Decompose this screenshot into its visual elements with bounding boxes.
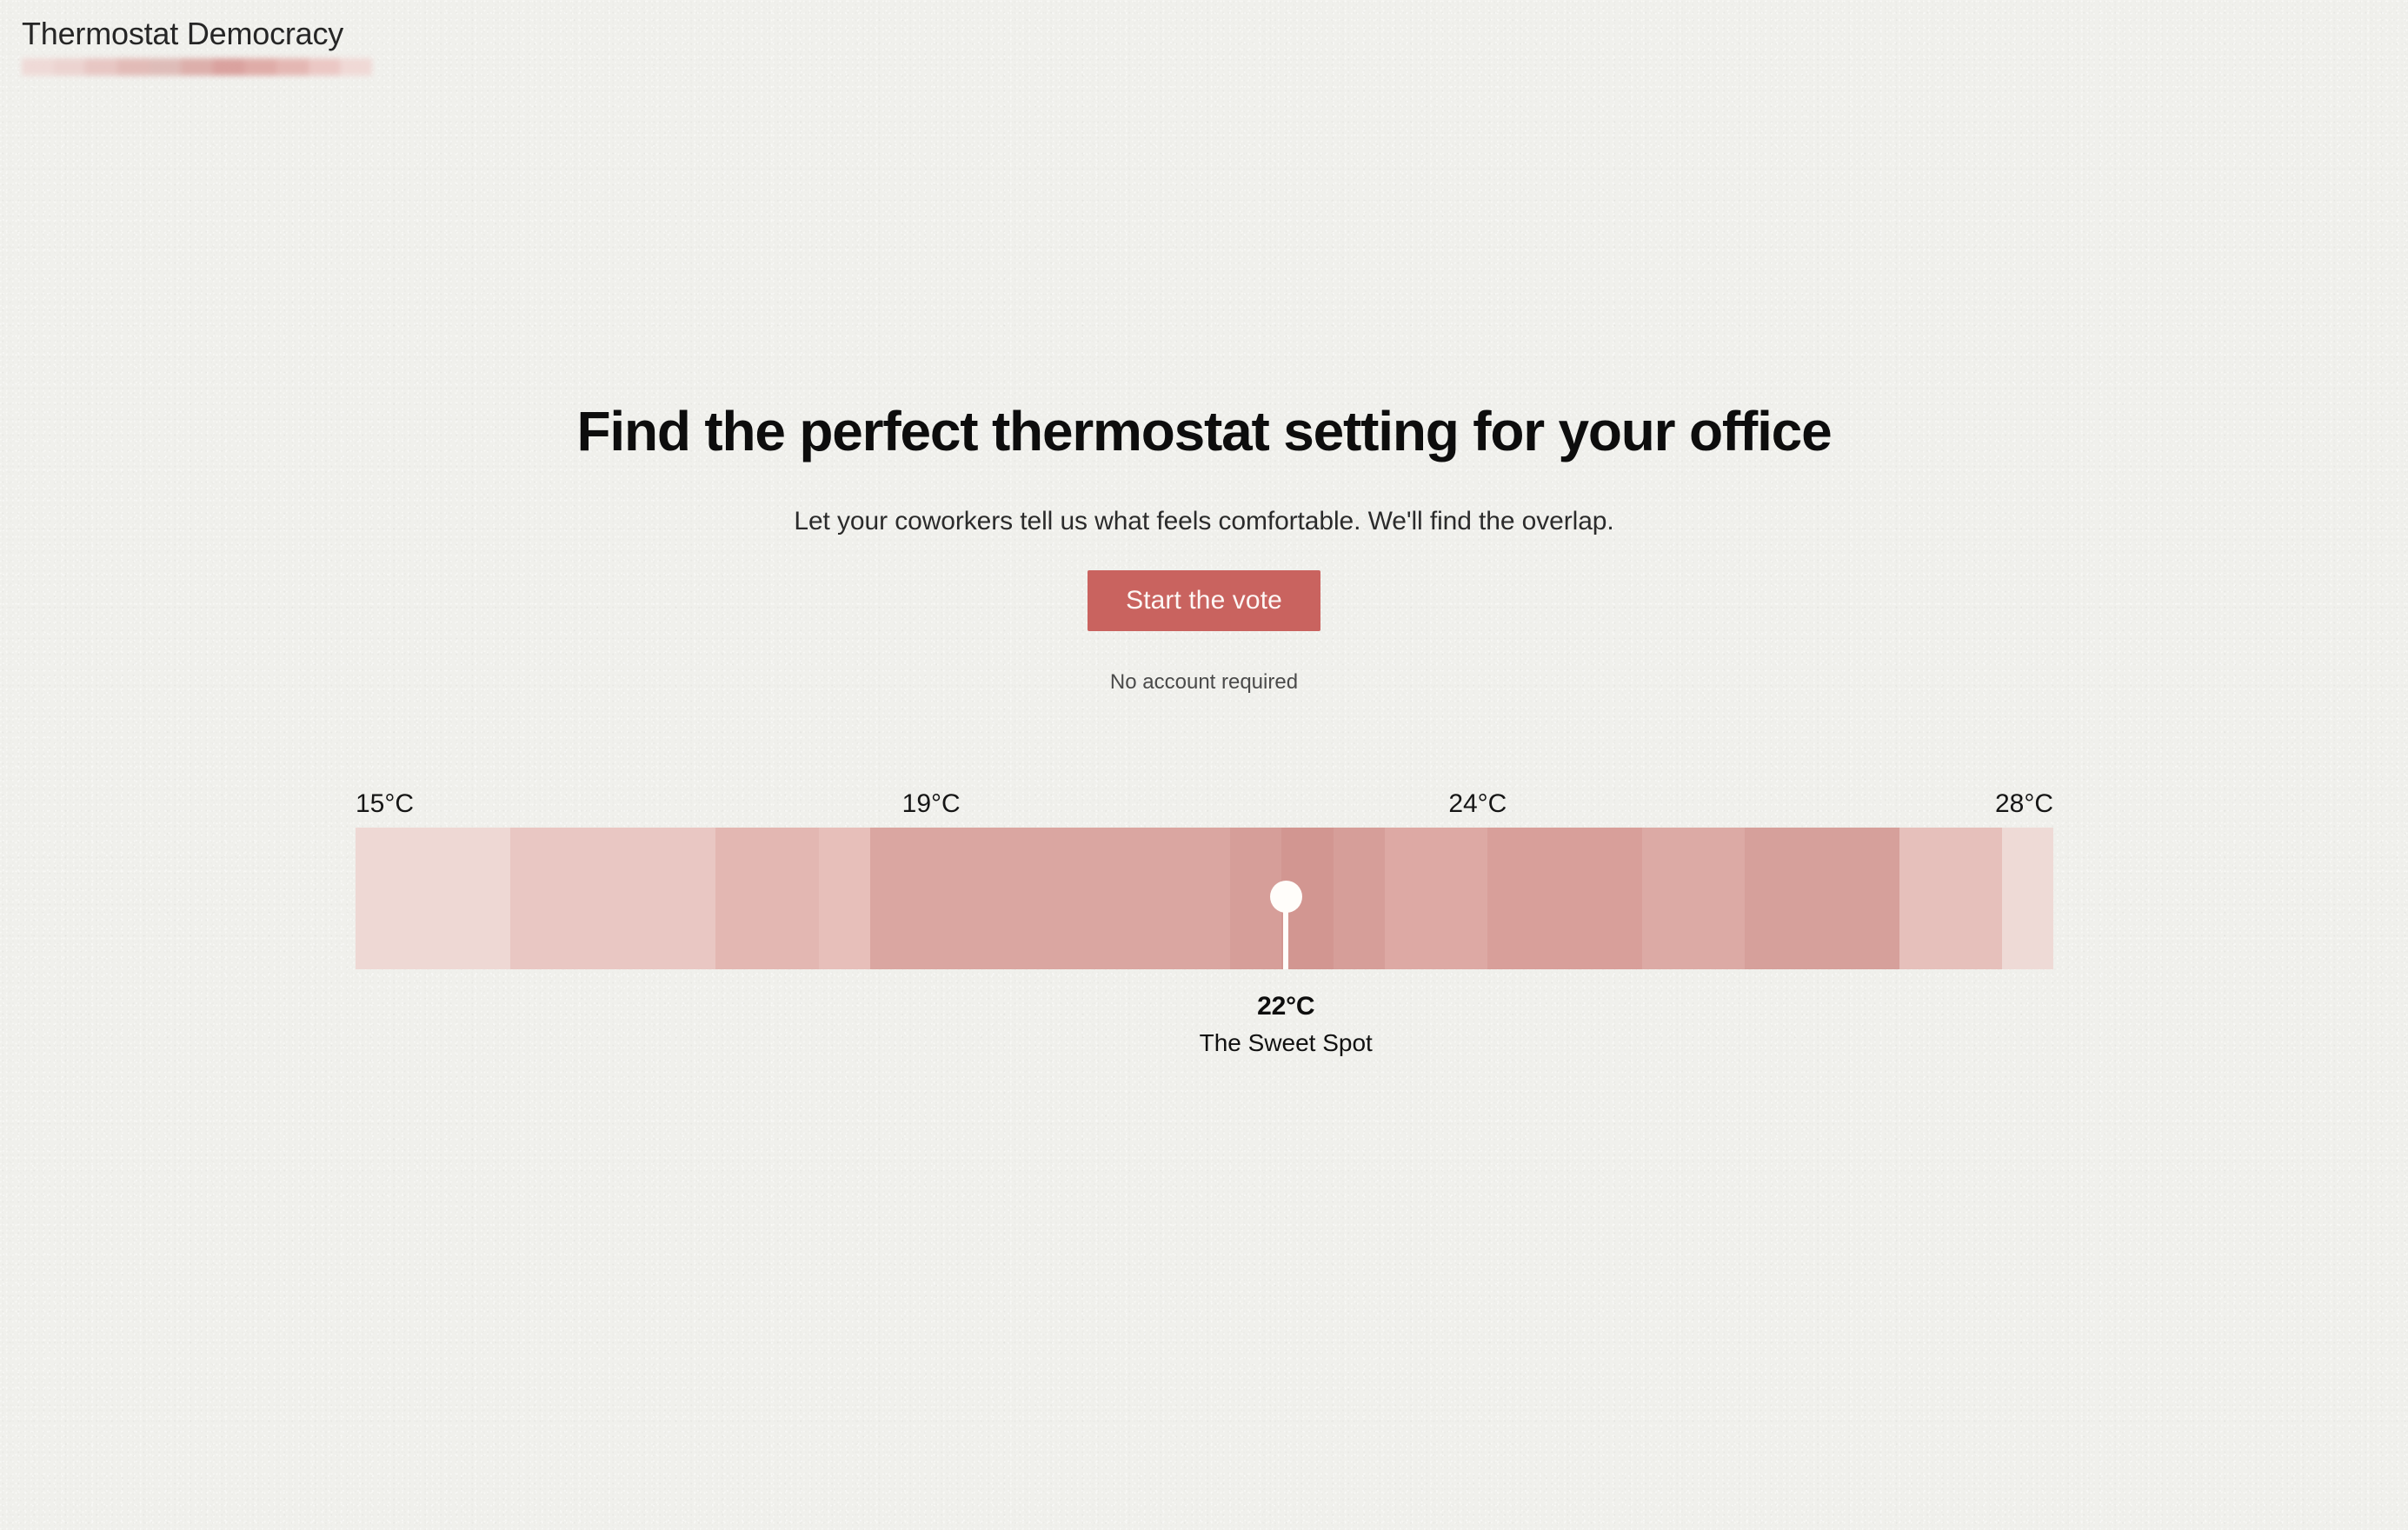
heatmap-band (1642, 828, 1693, 969)
heatmap-band (407, 828, 458, 969)
heatmap-band (768, 828, 819, 969)
heatmap-band (613, 828, 664, 969)
hero-subtitle: Let your coworkers tell us what feels co… (0, 507, 2408, 536)
heatmap-band (458, 828, 509, 969)
cta-wrapper: Start the vote (0, 570, 2408, 631)
heatmap-band (1487, 828, 1539, 969)
heatmap-band (1591, 828, 1642, 969)
brand-underline-segment (213, 58, 245, 76)
heatmap-band (664, 828, 715, 969)
scale-tick-label: 15°C (356, 789, 414, 819)
brand-underline-segment (85, 58, 117, 76)
scale-tick-label: 19°C (902, 789, 961, 819)
brand-title: Thermostat Democracy (22, 16, 372, 51)
brand-underline-segment (276, 58, 309, 76)
heatmap-band (1385, 828, 1436, 969)
heatmap-band (1899, 828, 1951, 969)
temperature-scale[interactable]: 15°C 19°C 24°C 28°C (356, 789, 2053, 969)
heatmap-band (819, 828, 870, 969)
heatmap-band (2002, 828, 2053, 969)
heatmap-band (562, 828, 613, 969)
heatmap-band (1539, 828, 1590, 969)
heatmap-band (1334, 828, 1385, 969)
heatmap-band (510, 828, 562, 969)
scale-tick-label: 28°C (1995, 789, 2053, 819)
heatmap-band (1076, 828, 1128, 969)
heatmap-band (1128, 828, 1179, 969)
scale-tick-label: 24°C (1448, 789, 1507, 819)
start-vote-button[interactable]: Start the vote (1088, 570, 1320, 631)
heatmap-band (1951, 828, 2002, 969)
site-header: Thermostat Democracy (22, 16, 372, 76)
brand-underline-segment (117, 58, 150, 76)
brand-underline-segment (54, 58, 86, 76)
heatmap-band (1847, 828, 1899, 969)
brand-underline-segment (22, 58, 54, 76)
scale-tick-labels: 15°C 19°C 24°C 28°C (356, 789, 2053, 819)
brand-underline-segment (309, 58, 341, 76)
heatmap-band (356, 828, 407, 969)
cta-note: No account required (0, 670, 2408, 695)
page-title: Find the perfect thermostat setting for … (0, 401, 2408, 462)
heatmap-band (715, 828, 767, 969)
brand-underline-segment (150, 58, 182, 76)
sweet-spot-readout: 22°C The Sweet Spot (1181, 992, 1390, 1057)
sweet-spot-caption: The Sweet Spot (1181, 1029, 1390, 1057)
heatmap-band (1230, 828, 1281, 969)
heatmap-band (870, 828, 921, 969)
heatmap-band (973, 828, 1024, 969)
brand-underline-segment (340, 58, 372, 76)
comfort-heatmap-bar[interactable] (356, 828, 2053, 969)
brand-underline-gradient (22, 58, 372, 76)
heatmap-band (921, 828, 973, 969)
heatmap-band (1024, 828, 1075, 969)
heatmap-band (1745, 828, 1796, 969)
sweet-spot-temperature: 22°C (1181, 992, 1390, 1021)
heatmap-band (1796, 828, 1847, 969)
heatmap-band (1281, 828, 1333, 969)
paper-texture-overlay (0, 0, 2408, 1530)
brand-underline-segment (244, 58, 276, 76)
heatmap-band (1693, 828, 1745, 969)
heatmap-band (1179, 828, 1230, 969)
heatmap-band (1436, 828, 1487, 969)
brand-underline-segment (181, 58, 213, 76)
